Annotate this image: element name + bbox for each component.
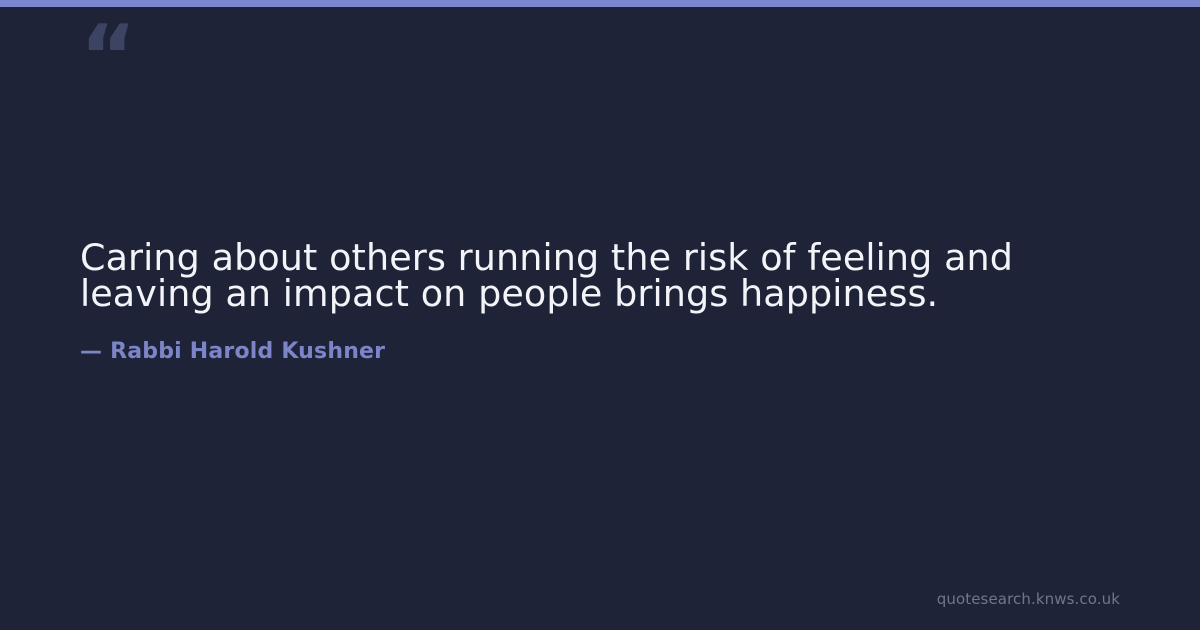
quote-attribution: — Rabbi Harold Kushner (80, 312, 1090, 365)
open-quote-icon: “ (80, 14, 135, 100)
quote-content-block: Caring about others running the risk of … (80, 240, 1090, 365)
site-watermark: quotesearch.knws.co.uk (937, 590, 1120, 608)
em-dash: — (80, 339, 102, 364)
quote-card: “ Caring about others running the risk o… (0, 0, 1200, 630)
author-name: Rabbi Harold Kushner (110, 339, 385, 364)
top-accent-bar (0, 0, 1200, 7)
quote-text: Caring about others running the risk of … (80, 240, 1080, 312)
